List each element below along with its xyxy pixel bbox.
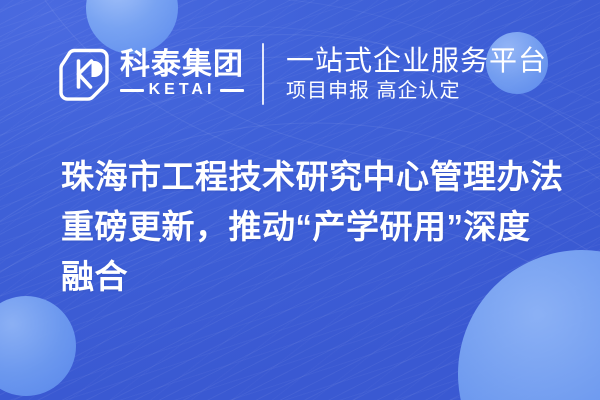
headline-line-3: 融合 (61, 252, 561, 302)
promo-banner: 科泰集团 KETAI 一站式企业服务平台 项目申报 高企认定 珠海市工程技术研究… (0, 0, 600, 400)
logo-company-name-cn: 科泰集团 (120, 50, 244, 80)
ketai-kp-monogram-logo-icon (58, 47, 110, 101)
logo-rule-left (120, 89, 144, 92)
company-logo: 科泰集团 KETAI (58, 47, 244, 101)
logo-rule-right (220, 89, 244, 92)
header-vertical-divider (262, 43, 264, 105)
headline-line-2: 重磅更新，推动“产学研用”深度 (61, 202, 561, 252)
logo-company-name-en-row: KETAI (120, 82, 244, 98)
tagline-main: 一站式企业服务平台 (286, 46, 547, 75)
tagline-sub: 项目申报 高企认定 (286, 81, 547, 102)
tagline-block: 一站式企业服务平台 项目申报 高企认定 (286, 46, 547, 101)
banner-header: 科泰集团 KETAI 一站式企业服务平台 项目申报 高企认定 (0, 36, 600, 112)
headline-line-1: 珠海市工程技术研究中心管理办法 (61, 152, 561, 202)
logo-wordmark: 科泰集团 KETAI (120, 50, 244, 98)
logo-company-name-en: KETAI (149, 82, 216, 98)
headline-title: 珠海市工程技术研究中心管理办法 重磅更新，推动“产学研用”深度 融合 (61, 152, 561, 302)
